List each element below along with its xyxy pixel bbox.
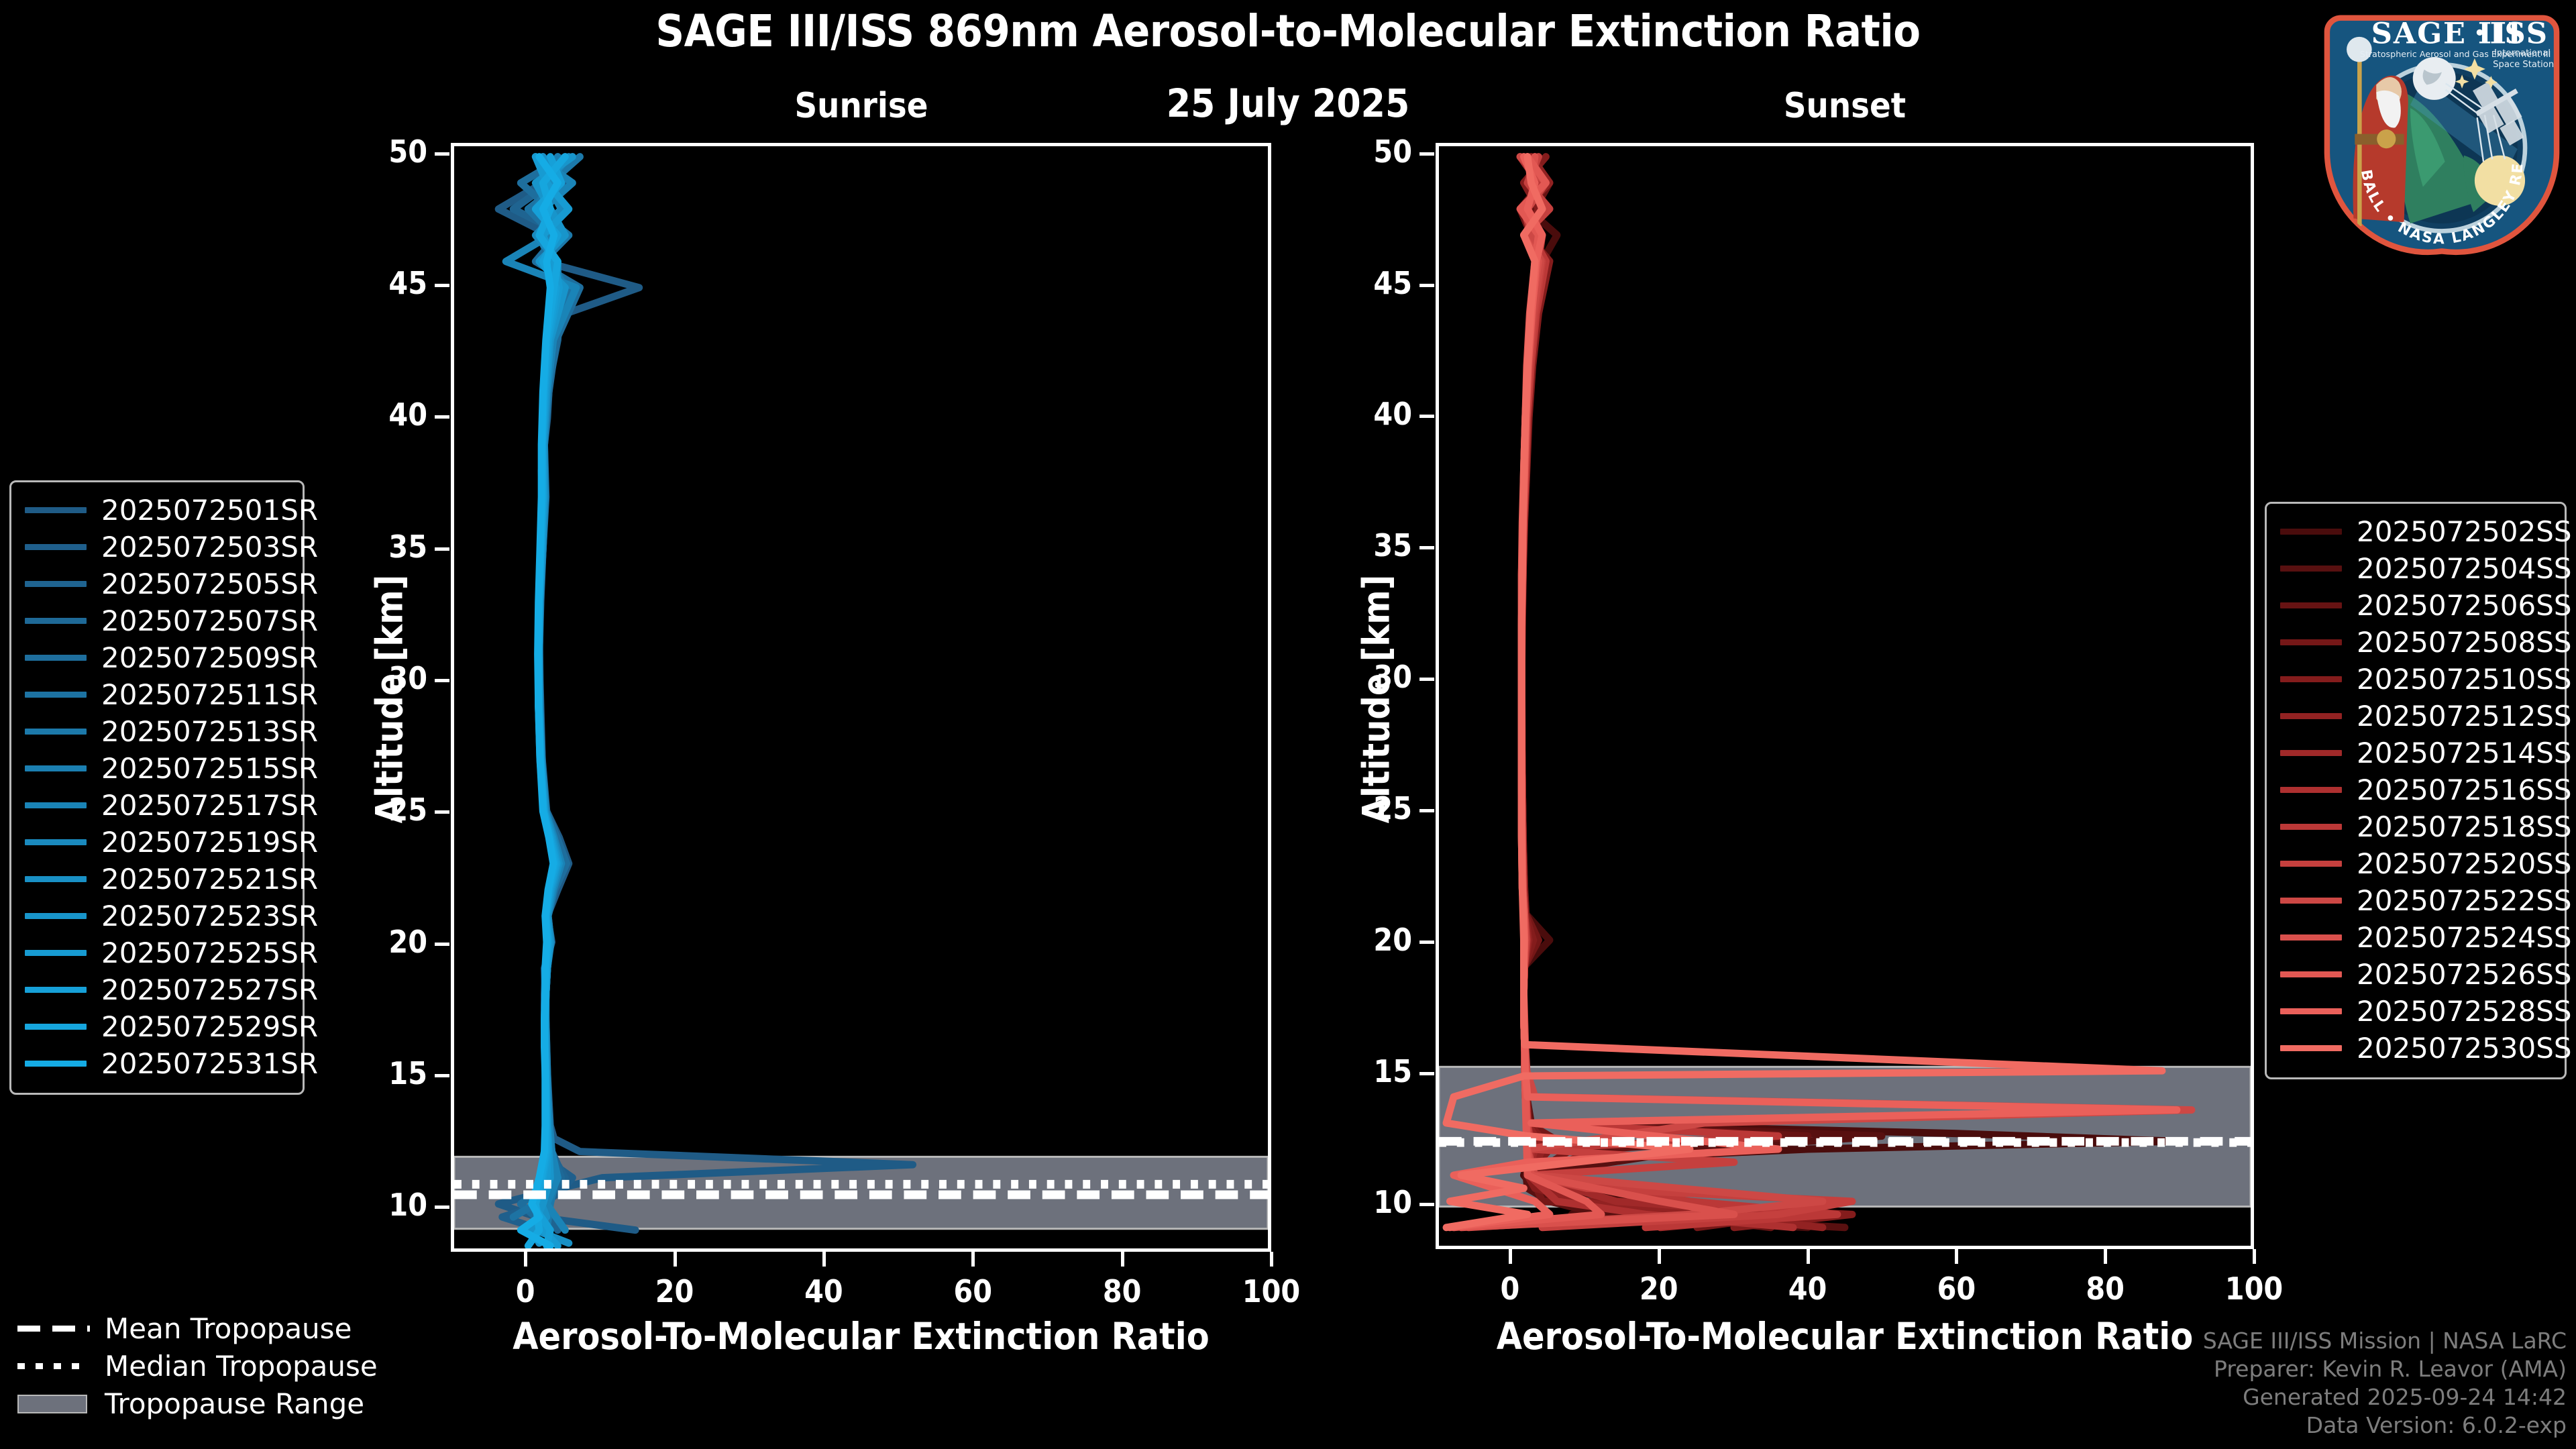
y-axis-tick <box>435 943 449 946</box>
legend-item[interactable]: 2025072503SR <box>25 529 289 566</box>
logo-subtitle-iss-2: Space Station <box>2493 60 2554 70</box>
x-axis-tick-label: 0 <box>472 1273 579 1309</box>
y-axis-tick-label: 15 <box>1301 1053 1412 1089</box>
y-axis-tick-label: 15 <box>317 1055 427 1091</box>
legend-item[interactable]: 2025072520SS <box>2280 845 2551 882</box>
legend-item[interactable]: 2025072512SS <box>2280 698 2551 735</box>
legend-item-label: Tropopause Range <box>105 1387 364 1420</box>
x-axis-tick-label: 60 <box>1902 1271 2010 1307</box>
legend-color-swatch <box>2280 971 2342 977</box>
legend-item-label: 2025072515SR <box>101 752 318 785</box>
y-axis-tick-label: 10 <box>317 1187 427 1223</box>
legend-color-swatch <box>25 655 87 661</box>
y-axis-tick <box>1419 941 1434 944</box>
legend-item-label: 2025072517SR <box>101 789 318 822</box>
legend-item[interactable]: 2025072501SR <box>25 492 289 529</box>
y-axis-tick-label: 35 <box>1301 527 1412 563</box>
y-axis-tick <box>435 284 449 287</box>
legend-color-swatch <box>25 581 87 587</box>
x-axis-tick-label: 20 <box>621 1273 729 1309</box>
x-axis-tick-label: 80 <box>1069 1273 1176 1309</box>
credits-block: SAGE III/ISS Mission | NASA LaRC Prepare… <box>2203 1327 2567 1440</box>
legend-item[interactable]: 2025072528SS <box>2280 993 2551 1030</box>
legend-item[interactable]: 2025072511SR <box>25 676 289 713</box>
legend-item-label: 2025072504SS <box>2357 552 2572 585</box>
legend-line-style-key <box>17 1357 90 1375</box>
legend-color-swatch <box>2280 824 2342 830</box>
legend-item[interactable]: 2025072517SR <box>25 787 289 824</box>
y-axis-tick <box>435 1205 449 1209</box>
logo-title-bullet-icon: • <box>2473 21 2486 46</box>
x-axis-tick-label: 40 <box>1754 1271 1862 1307</box>
legend-color-swatch <box>25 913 87 919</box>
profile-traces-sunrise <box>454 146 1268 1248</box>
x-axis-tick <box>1658 1249 1661 1264</box>
y-axis-tick-label: 40 <box>317 396 427 433</box>
legend-item[interactable]: 2025072527SR <box>25 971 289 1008</box>
legend-item-label: 2025072512SS <box>2357 700 2572 733</box>
legend-item[interactable]: 2025072524SS <box>2280 919 2551 956</box>
y-axis-tick-label: 45 <box>1301 265 1412 301</box>
logo-subtitle-iss-1: International <box>2494 48 2551 58</box>
legend-item[interactable]: 2025072525SR <box>25 934 289 971</box>
legend-color-swatch <box>2280 566 2342 572</box>
legend-line-style-key <box>17 1395 90 1412</box>
legend-item[interactable]: 2025072506SS <box>2280 587 2551 624</box>
legend-item-label: 2025072507SR <box>101 604 318 637</box>
legend-item: Mean Tropopause <box>17 1309 378 1347</box>
credit-line-generated: Generated 2025-09-24 14:42 <box>2203 1383 2567 1411</box>
legend-item-label: 2025072518SS <box>2357 810 2572 843</box>
legend-item[interactable]: 2025072514SS <box>2280 735 2551 771</box>
legend-item[interactable]: 2025072508SS <box>2280 624 2551 661</box>
legend-color-swatch <box>2280 639 2342 645</box>
legend-item-label: 2025072530SS <box>2357 1032 2572 1065</box>
legend-item-label: 2025072528SS <box>2357 995 2572 1028</box>
x-axis-label-sunrise: Aerosol-To-Molecular Extinction Ratio <box>451 1315 1271 1358</box>
legend-item-label: 2025072508SS <box>2357 626 2572 659</box>
x-axis-tick <box>1509 1249 1512 1264</box>
y-axis-tick <box>435 152 449 156</box>
y-axis-tick <box>1419 546 1434 549</box>
y-axis-tick <box>1419 678 1434 681</box>
legend-item-label: 2025072520SS <box>2357 847 2572 880</box>
y-axis-tick <box>435 415 449 419</box>
legend-tropopause: Mean TropopauseMedian TropopauseTropopau… <box>17 1309 378 1422</box>
x-axis-tick <box>1270 1252 1273 1267</box>
legend-item-label: 2025072531SR <box>101 1047 318 1080</box>
legend-item-label: Median Tropopause <box>105 1350 378 1383</box>
legend-color-swatch <box>25 618 87 624</box>
legend-item-label: 2025072506SS <box>2357 589 2572 622</box>
profile-traces-sunset <box>1439 146 2251 1246</box>
legend-item[interactable]: 2025072516SS <box>2280 771 2551 808</box>
legend-item-label: 2025072503SR <box>101 531 318 563</box>
page-title: SAGE III/ISS 869nm Aerosol-to-Molecular … <box>0 5 2576 57</box>
legend-item[interactable]: 2025072505SR <box>25 566 289 602</box>
legend-item-label: 2025072501SR <box>101 494 318 527</box>
legend-item-label: 2025072513SR <box>101 715 318 748</box>
legend-item-label: 2025072523SR <box>101 900 318 932</box>
credit-line-mission: SAGE III/ISS Mission | NASA LaRC <box>2203 1327 2567 1355</box>
legend-color-swatch <box>2280 787 2342 793</box>
legend-item-label: 2025072505SR <box>101 568 318 600</box>
y-axis-tick-label: 35 <box>317 529 427 565</box>
y-axis-label-sunrise: Altitude [km] <box>368 575 411 824</box>
legend-color-swatch <box>2280 676 2342 682</box>
y-axis-tick <box>435 1074 449 1077</box>
y-axis-tick <box>435 810 449 814</box>
legend-item[interactable]: 2025072513SR <box>25 713 289 750</box>
legend-item-label: 2025072514SS <box>2357 737 2572 769</box>
legend-color-swatch <box>25 1024 87 1030</box>
legend-item[interactable]: 2025072521SR <box>25 861 289 898</box>
legend-color-swatch <box>2280 1008 2342 1014</box>
legend-item[interactable]: 2025072504SS <box>2280 550 2551 587</box>
x-axis-tick-label: 100 <box>1218 1273 1325 1309</box>
y-axis-tick <box>435 547 449 551</box>
legend-sunrise-events[interactable]: 2025072501SR2025072503SR2025072505SR2025… <box>9 480 305 1095</box>
legend-item[interactable]: 2025072507SR <box>25 602 289 639</box>
y-axis-tick-label: 40 <box>1301 396 1412 432</box>
legend-item-label: 2025072521SR <box>101 863 318 896</box>
panel-title-sunset: Sunset <box>1436 86 2254 126</box>
legend-color-swatch <box>2280 934 2342 941</box>
x-axis-tick <box>2104 1249 2107 1264</box>
legend-color-swatch <box>2280 1045 2342 1051</box>
legend-item-label: 2025072510SS <box>2357 663 2572 696</box>
x-axis-tick <box>971 1252 975 1267</box>
x-axis-tick <box>1807 1249 1810 1264</box>
y-axis-label-sunset: Altitude [km] <box>1354 575 1397 824</box>
sage3-iss-mission-patch-logo: BALL • NASA LANGLEY RESEARCH CENTER • TA… <box>2316 4 2568 256</box>
y-axis-tick <box>435 679 449 682</box>
x-axis-tick <box>524 1252 527 1267</box>
legend-color-swatch <box>25 876 87 882</box>
legend-item-label: 2025072525SR <box>101 936 318 969</box>
legend-item[interactable]: 2025072509SR <box>25 639 289 676</box>
legend-item[interactable]: 2025072515SR <box>25 750 289 787</box>
legend-item-label: Mean Tropopause <box>105 1312 352 1345</box>
x-axis-label-sunset: Aerosol-To-Molecular Extinction Ratio <box>1436 1315 2254 1358</box>
legend-item[interactable]: 2025072518SS <box>2280 808 2551 845</box>
panel-title-sunrise: Sunrise <box>451 86 1272 126</box>
legend-item-label: 2025072529SR <box>101 1010 318 1043</box>
y-axis-tick-label: 20 <box>1301 922 1412 958</box>
legend-item-label: 2025072502SS <box>2357 515 2572 548</box>
legend-item-label: 2025072519SR <box>101 826 318 859</box>
legend-color-swatch <box>25 950 87 956</box>
legend-item-label: 2025072527SR <box>101 973 318 1006</box>
y-axis-tick-label: 50 <box>1301 133 1412 170</box>
x-axis-tick <box>822 1252 826 1267</box>
legend-item[interactable]: 2025072523SR <box>25 898 289 934</box>
legend-sunset-events[interactable]: 2025072502SS2025072504SS2025072506SS2025… <box>2265 502 2567 1079</box>
legend-color-swatch <box>2280 898 2342 904</box>
legend-color-swatch <box>25 692 87 698</box>
legend-item[interactable]: 2025072522SS <box>2280 882 2551 919</box>
legend-color-swatch <box>25 544 87 550</box>
legend-item-label: 2025072524SS <box>2357 921 2572 954</box>
y-axis-tick <box>1419 152 1434 156</box>
legend-color-swatch <box>25 839 87 845</box>
legend-item: Tropopause Range <box>17 1385 378 1422</box>
credit-line-dataversion: Data Version: 6.0.2-exp <box>2203 1411 2567 1440</box>
credit-line-preparer: Preparer: Kevin R. Leavor (AMA) <box>2203 1355 2567 1383</box>
y-axis-tick-label: 20 <box>317 924 427 960</box>
x-axis-tick <box>2253 1249 2256 1264</box>
legend-item[interactable]: 2025072529SR <box>25 1008 289 1045</box>
legend-color-swatch <box>25 987 87 993</box>
legend-color-swatch <box>2280 713 2342 719</box>
plot-area-sunrise <box>451 143 1271 1252</box>
x-axis-tick-label: 40 <box>770 1273 877 1309</box>
plot-area-sunset <box>1436 143 2254 1249</box>
legend-line-style-key <box>17 1320 90 1337</box>
y-axis-tick-label: 50 <box>317 133 427 170</box>
legend-item[interactable]: 2025072531SR <box>25 1045 289 1082</box>
y-axis-tick <box>1419 809 1434 812</box>
y-axis-tick <box>1419 415 1434 418</box>
legend-color-swatch <box>2280 529 2342 535</box>
y-axis-tick <box>1419 284 1434 287</box>
legend-item[interactable]: 2025072526SS <box>2280 956 2551 993</box>
x-axis-tick <box>1121 1252 1124 1267</box>
legend-item-label: 2025072511SR <box>101 678 318 711</box>
x-axis-tick-label: 100 <box>2200 1271 2308 1307</box>
legend-color-swatch <box>2280 750 2342 756</box>
legend-item-label: 2025072509SR <box>101 641 318 674</box>
legend-item-label: 2025072522SS <box>2357 884 2572 917</box>
x-axis-tick <box>674 1252 677 1267</box>
legend-item[interactable]: 2025072510SS <box>2280 661 2551 698</box>
legend-item-label: 2025072516SS <box>2357 773 2572 806</box>
legend-item: Median Tropopause <box>17 1347 378 1385</box>
legend-item[interactable]: 2025072519SR <box>25 824 289 861</box>
legend-item[interactable]: 2025072502SS <box>2280 513 2551 550</box>
y-axis-tick <box>1419 1203 1434 1206</box>
legend-item-label: 2025072526SS <box>2357 958 2572 991</box>
legend-color-swatch <box>2280 861 2342 867</box>
legend-color-swatch <box>25 765 87 771</box>
x-axis-tick-label: 20 <box>1605 1271 1713 1307</box>
x-axis-tick-label: 80 <box>2051 1271 2159 1307</box>
legend-item[interactable]: 2025072530SS <box>2280 1030 2551 1067</box>
logo-title-iss: ISS <box>2489 16 2548 50</box>
y-axis-tick-label: 10 <box>1301 1184 1412 1220</box>
x-axis-tick-label: 0 <box>1456 1271 1564 1307</box>
legend-color-swatch <box>25 1061 87 1067</box>
y-axis-tick-label: 45 <box>317 265 427 301</box>
legend-color-swatch <box>2280 602 2342 608</box>
x-axis-tick <box>1955 1249 1958 1264</box>
legend-color-swatch <box>25 507 87 513</box>
y-axis-tick <box>1419 1072 1434 1075</box>
legend-color-swatch <box>25 729 87 735</box>
x-axis-tick-label: 60 <box>919 1273 1026 1309</box>
legend-color-swatch <box>25 802 87 808</box>
